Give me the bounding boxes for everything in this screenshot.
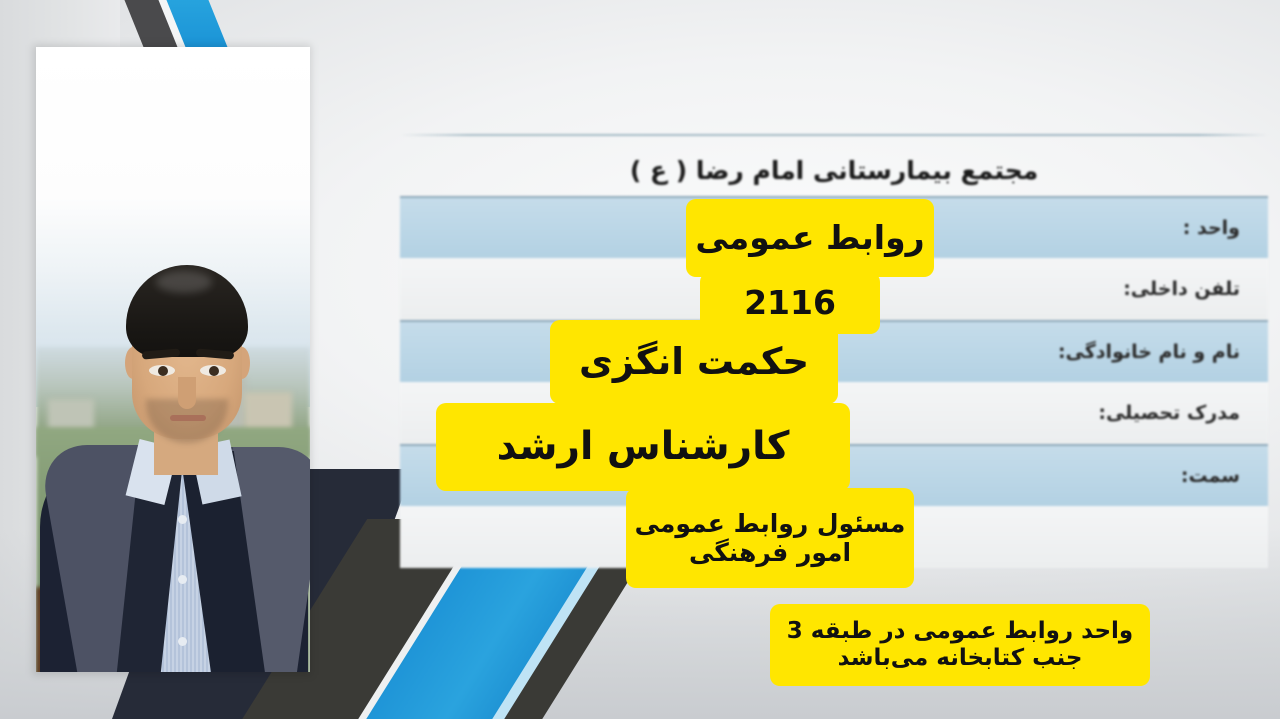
photo-hair-highlight	[156, 271, 212, 293]
highlight-unit: روابط عمومی	[686, 199, 934, 277]
photo-shirt-button	[178, 575, 187, 584]
row-label-full-name: نام و نام خانوادگی:	[1058, 341, 1240, 363]
row-label-position: سمت:	[1181, 465, 1240, 487]
highlight-note-line2: جنب کتابخانه می‌باشد	[838, 645, 1083, 672]
photo-pupil-left	[158, 366, 168, 376]
highlight-position-line2: امور فرهنگی	[689, 538, 851, 568]
highlight-location-note: واحد روابط عمومی در طبقه 3 جنب کتابخانه …	[770, 604, 1150, 686]
photo-shirt-button	[178, 637, 187, 646]
slide-canvas: مجتمع بیمارستانی امام رضا ( ع ) واحد : ت…	[0, 0, 1280, 719]
highlight-full-name: حکمت انگزی	[550, 320, 838, 404]
photo-pupil-right	[209, 366, 219, 376]
row-label-degree: مدرک تحصیلی:	[1098, 402, 1240, 424]
highlight-note-line1: واحد روابط عمومی در طبقه 3	[787, 618, 1133, 645]
highlight-position: مسئول روابط عمومی امور فرهنگی	[626, 488, 914, 588]
photo-mouth	[170, 415, 206, 421]
card-top-rule	[400, 134, 1268, 136]
portrait-photo	[36, 47, 310, 672]
row-label-unit: واحد :	[1183, 217, 1240, 239]
photo-shirt-button	[178, 515, 187, 524]
photo-nose	[178, 377, 196, 409]
highlight-position-line1: مسئول روابط عمومی	[635, 509, 906, 539]
row-label-internal-phone: تلفن داخلی:	[1123, 278, 1240, 300]
card-title: مجتمع بیمارستانی امام رضا ( ع )	[400, 146, 1268, 194]
highlight-degree: کارشناس ارشد	[436, 403, 850, 491]
